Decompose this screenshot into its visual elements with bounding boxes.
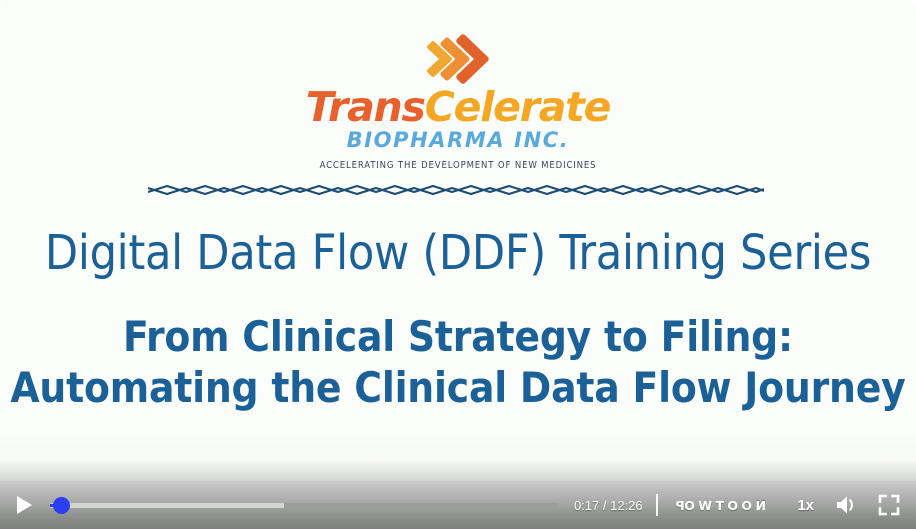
progress-buffered (50, 503, 284, 508)
powtoon-letter-t: T (715, 498, 727, 513)
time-display: 0:17 / 12:26 (562, 498, 656, 513)
powtoon-letter-p: P (672, 498, 685, 513)
playback-speed-button[interactable]: 1x (797, 497, 814, 514)
video-stage[interactable]: TransCelerate BIOPHARMA INC. ACCELERATIN… (0, 0, 916, 481)
powtoon-letter-o1: O (684, 498, 698, 513)
powtoon-letter-w: W (698, 498, 715, 513)
triple-chevron-icon (423, 34, 493, 84)
powtoon-letter-n: N (755, 498, 769, 513)
slide-subhead-line-2: Automating the Clinical Data Flow Journe… (0, 362, 916, 413)
progress-handle[interactable] (53, 497, 70, 514)
slide-subhead: From Clinical Strategy to Filing: Automa… (0, 311, 916, 413)
slide-headline: Digital Data Flow (DDF) Training Series (0, 225, 916, 281)
play-button[interactable] (0, 481, 44, 529)
powtoon-letter-o3: O (741, 498, 755, 513)
zigzag-crisscross-divider (148, 178, 764, 202)
slide-subhead-line-1: From Clinical Strategy to Filing: (0, 311, 916, 362)
progress-scrubber[interactable] (44, 481, 562, 529)
logo-wordmark-trans: Trans (306, 83, 425, 131)
powtoon-letter-o2: O (727, 498, 741, 513)
play-triangle-icon (17, 496, 32, 514)
fullscreen-expand-icon (878, 494, 900, 516)
video-player[interactable]: TransCelerate BIOPHARMA INC. ACCELERATIN… (0, 0, 916, 529)
logo-wordmark-celerate: Celerate (425, 83, 610, 131)
player-control-bar[interactable]: 0:17 / 12:26 POWTOON 1x (0, 481, 916, 529)
volume-speaker-icon (835, 494, 859, 516)
logo-tagline: ACCELERATING THE DEVELOPMENT OF NEW MEDI… (0, 161, 916, 171)
stage-bottom-fade (0, 434, 916, 481)
transcelerate-logo: TransCelerate BIOPHARMA INC. ACCELERATIN… (0, 34, 916, 172)
volume-button[interactable] (828, 481, 866, 529)
fullscreen-button[interactable] (870, 481, 908, 529)
control-divider (656, 494, 658, 516)
logo-wordmark: TransCelerate (0, 87, 916, 128)
powtoon-wordmark[interactable]: POWTOON (672, 498, 770, 513)
logo-subtitle: BIOPHARMA INC. (0, 129, 916, 152)
